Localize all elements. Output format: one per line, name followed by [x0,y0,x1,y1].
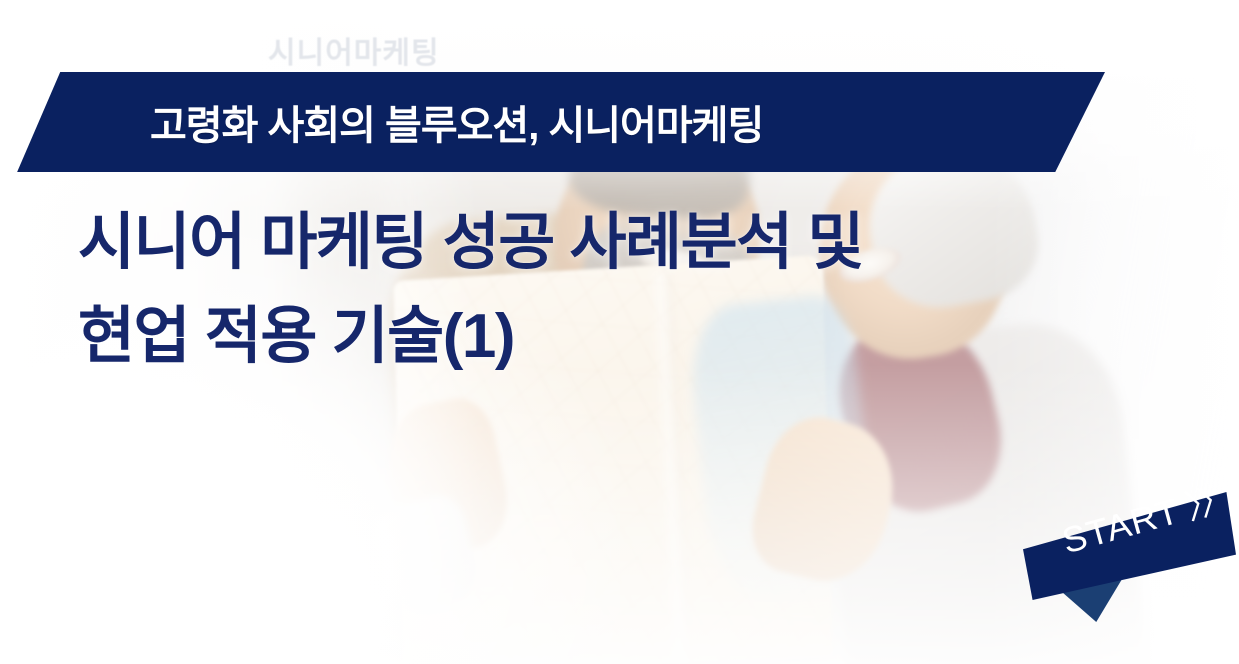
start-button[interactable]: START 〉〉 [1018,492,1236,622]
faint-watermark-text: 시니어마케팅 [268,28,440,72]
page-title: 시니어 마케팅 성공 사례분석 및 현업 적용 기술(1) [78,196,1138,384]
eyebrow-ribbon: 고령화 사회의 블루오션, 시니어마케팅 [0,72,1105,172]
page-title-line-2: 현업 적용 기술(1) [78,290,1138,384]
eyebrow-ribbon-label: 고령화 사회의 블루오션, 시니어마케팅 [150,72,763,172]
page-title-line-1: 시니어 마케팅 성공 사례분석 및 [78,196,1138,290]
title-slide: 시니어마케팅 고령화 사회의 블루오션, 시니어마케팅 시니어 마케팅 성공 사… [0,0,1239,664]
